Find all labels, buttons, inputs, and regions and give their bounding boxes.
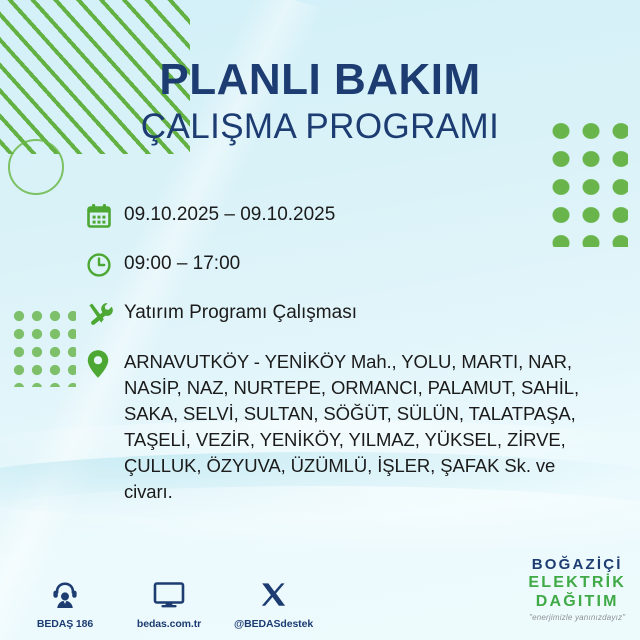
footer-item-label: @BEDASdestek <box>234 618 313 630</box>
brand-logo: BOĞAZİÇİ ELEKTRİK DAĞITIM "enerjimizle y… <box>528 557 626 622</box>
title-sub: ÇALIŞMA PROGRAMI <box>0 105 640 149</box>
info-list: 09.10.2025 – 09.10.2025 09:00 – 17:00 Ya… <box>86 200 606 505</box>
calendar-icon <box>86 200 124 230</box>
title-main: PLANLI BAKIM <box>0 58 640 103</box>
footer-item-call-center[interactable]: BEDAŞ 186 <box>26 575 104 632</box>
footer-item-website[interactable]: bedas.com.tr <box>130 575 208 632</box>
info-row-address: ARNAVUTKÖY - YENİKÖY Mah., YOLU, MARTI, … <box>86 347 606 505</box>
tools-icon <box>86 298 124 328</box>
brand-tagline: "enerjimizle yanınızdayız" <box>528 614 626 622</box>
brand-line-1: BOĞAZİÇİ <box>528 557 626 572</box>
poster-content: PLANLI BAKIM ÇALIŞMA PROGRAMI 09.10 <box>0 0 640 640</box>
date-range-text: 09.10.2025 – 09.10.2025 <box>124 200 335 227</box>
brand-line-3: DAĞITIM <box>528 594 626 610</box>
address-text: ARNAVUTKÖY - YENİKÖY Mah., YOLU, MARTI, … <box>124 347 606 505</box>
brand-line-2: ELEKTRİK <box>528 575 626 591</box>
footer-contact-items: BEDAŞ 186 bedas.com.tr <box>26 575 312 632</box>
info-row-work-type: Yatırım Programı Çalışması <box>86 298 606 328</box>
x-twitter-icon <box>234 575 312 609</box>
info-row-date: 09.10.2025 – 09.10.2025 <box>86 200 606 230</box>
footer: BEDAŞ 186 bedas.com.tr <box>0 554 640 640</box>
headset-support-icon <box>26 575 104 609</box>
footer-item-label: bedas.com.tr <box>137 618 201 630</box>
footer-item-social[interactable]: @BEDASdestek <box>234 575 312 632</box>
info-row-time: 09:00 – 17:00 <box>86 249 606 279</box>
work-type-text: Yatırım Programı Çalışması <box>124 298 357 325</box>
location-pin-icon <box>86 347 124 377</box>
time-range-text: 09:00 – 17:00 <box>124 249 240 276</box>
clock-icon <box>86 249 124 279</box>
footer-item-label: BEDAŞ 186 <box>37 618 93 630</box>
page-title: PLANLI BAKIM ÇALIŞMA PROGRAMI <box>0 58 640 149</box>
monitor-icon <box>130 575 208 609</box>
